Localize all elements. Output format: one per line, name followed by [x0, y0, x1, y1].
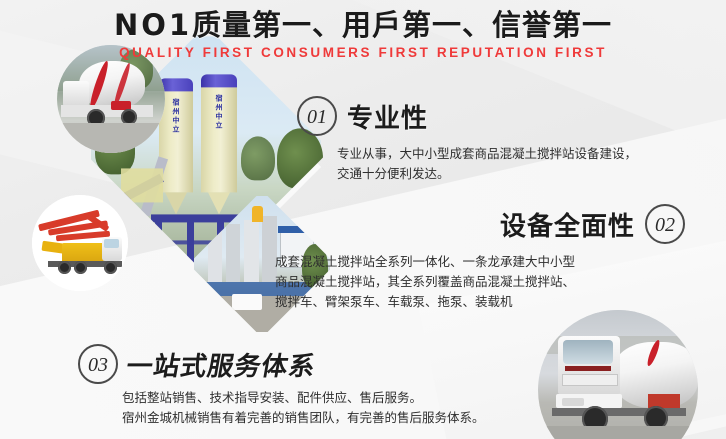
- header-no1: NO1: [114, 8, 192, 42]
- section-01-desc-line-1: 专业从事，大中小型成套商品混凝土搅拌站设备建设，: [337, 144, 637, 164]
- banner-header: NO1质量第一、用戶第一、信誉第一 QUALITY FIRST CONSUMER…: [0, 8, 726, 60]
- section-03-desc-line-1: 包括整站销售、技术指导安装、配件供应、售后服务。: [122, 388, 485, 408]
- photo-mixer-truck-circle: [57, 45, 165, 153]
- section-02-desc-line-3: 搅拌车、臂架泵车、车载泵、拖泵、装载机: [275, 292, 685, 312]
- header-subtitle-en: QUALITY FIRST CONSUMERS FIRST REPUTATION…: [0, 45, 726, 60]
- section-03-number: 03: [78, 344, 118, 384]
- header-title-cn: NO1质量第一、用戶第一、信誉第一: [0, 8, 726, 42]
- section-01-desc: 专业从事，大中小型成套商品混凝土搅拌站设备建设， 交通十分便利发达。: [337, 144, 637, 184]
- section-03-head: 03一站式服务体系: [78, 344, 485, 384]
- section-03-title: 一站式服务体系: [124, 346, 320, 383]
- pump-truck-scene: [32, 195, 128, 291]
- section-01-head: 01专业性: [297, 96, 637, 136]
- section-02-title: 设备全面性: [500, 206, 635, 243]
- section-03: 03一站式服务体系 包括整站销售、技术指导安装、配件供应、售后服务。 宿州金城机…: [78, 344, 485, 428]
- section-01-number: 01: [297, 96, 337, 136]
- photo-white-truck-circle: [538, 310, 698, 439]
- section-02-desc-line-1: 成套混凝土搅拌站全系列一体化、一条龙承建大中小型: [275, 252, 685, 272]
- section-03-desc: 包括整站销售、技术指导安装、配件供应、售后服务。 宿州金城机械销售有着完善的销售…: [122, 388, 485, 428]
- section-02-desc: 成套混凝土搅拌站全系列一体化、一条龙承建大中小型 商品混凝土搅拌站，其全系列覆盖…: [275, 252, 685, 312]
- section-02-number: 02: [645, 204, 685, 244]
- section-01: 01专业性 专业从事，大中小型成套商品混凝土搅拌站设备建设， 交通十分便利发达。: [297, 96, 637, 184]
- photo-pump-truck-circle: [32, 195, 128, 291]
- mixer-truck-scene: [57, 45, 165, 153]
- section-01-title: 专业性: [347, 98, 428, 135]
- header-title-rest: 质量第一、用戶第一、信誉第一: [192, 8, 612, 42]
- section-03-desc-line-2: 宿州金城机械销售有着完善的销售团队，有完善的售后服务体系。: [122, 408, 485, 428]
- section-01-desc-line-2: 交通十分便利发达。: [337, 164, 637, 184]
- section-02-head: 设备全面性02: [275, 204, 685, 244]
- promo-banner: NO1质量第一、用戶第一、信誉第一 QUALITY FIRST CONSUMER…: [0, 0, 726, 439]
- section-02: 设备全面性02 成套混凝土搅拌站全系列一体化、一条龙承建大中小型 商品混凝土搅拌…: [275, 204, 685, 312]
- section-02-desc-line-2: 商品混凝土搅拌站，其全系列覆盖商品混凝土搅拌站、: [275, 272, 685, 292]
- white-truck-scene: [538, 310, 698, 439]
